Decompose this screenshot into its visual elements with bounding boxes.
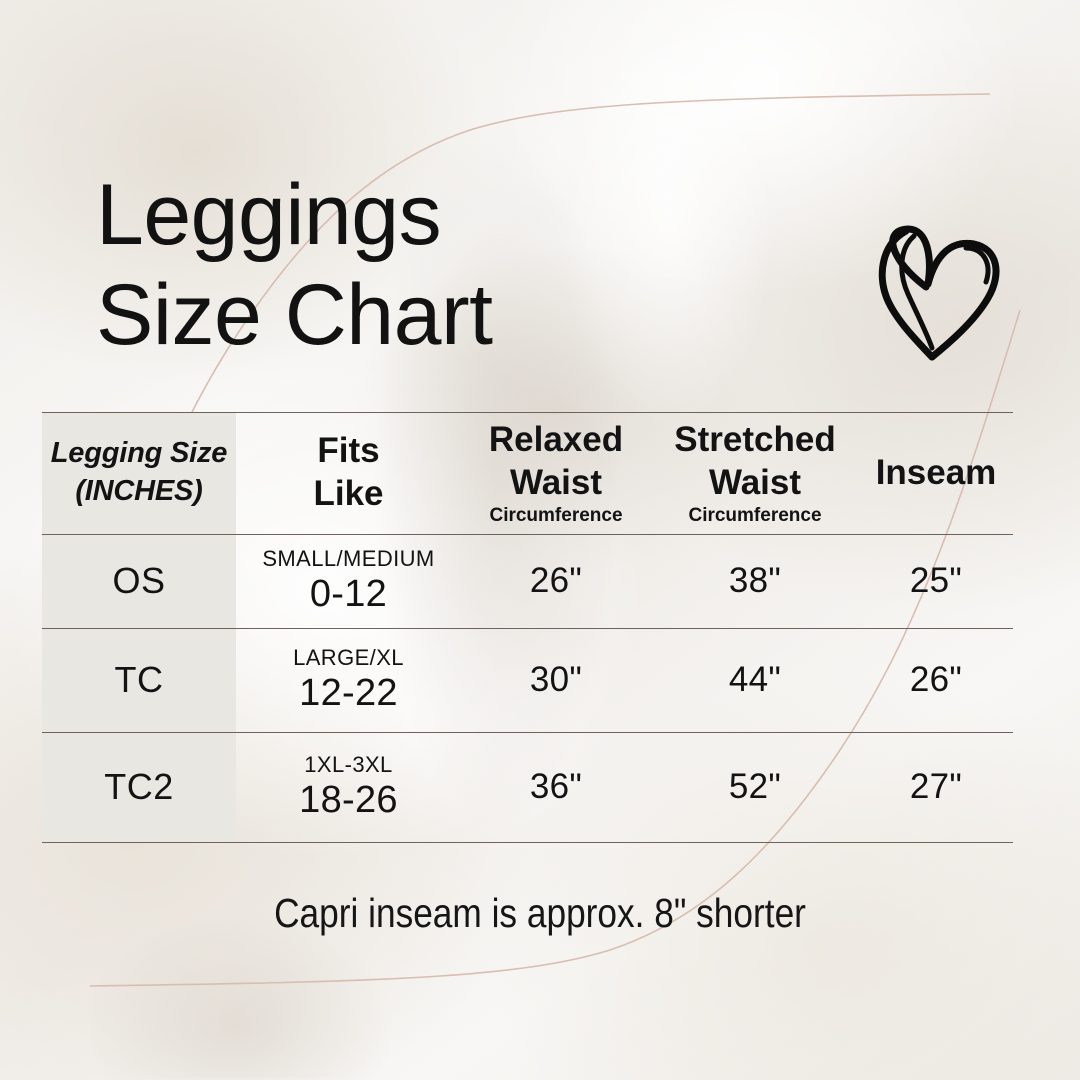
cell-relaxed-waist: 36" xyxy=(461,767,651,807)
value-fits-like-label: SMALL/MEDIUM xyxy=(262,546,434,572)
table-row: TC LARGE/XL 12-22 30" 44" 26" xyxy=(42,628,1013,732)
value-fits-like-range: 0-12 xyxy=(310,573,387,616)
cell-inseam: 27" xyxy=(859,767,1013,807)
page-title: Leggings Size Chart xyxy=(96,166,493,366)
cell-inseam: 25" xyxy=(859,561,1013,601)
cell-fits-like: 1XL-3XL 18-26 xyxy=(236,752,461,822)
cell-inseam: 26" xyxy=(859,660,1013,700)
value-fits-like-range: 18-26 xyxy=(299,779,398,822)
value-fits-like-range: 12-22 xyxy=(299,672,398,715)
header-cell-inseam: Inseam xyxy=(859,452,1013,495)
value-stretched-waist: 44" xyxy=(729,660,781,700)
cell-size: TC xyxy=(42,659,236,701)
cell-stretched-waist: 38" xyxy=(651,561,859,601)
header-label-inseam: Inseam xyxy=(876,452,997,495)
value-size: TC2 xyxy=(104,766,174,808)
value-inseam: 27" xyxy=(910,767,962,807)
value-relaxed-waist: 36" xyxy=(530,767,582,807)
cell-size: TC2 xyxy=(42,766,236,808)
capri-inseam-note: Capri inseam is approx. 8" shorter xyxy=(76,890,1005,937)
table-row: OS SMALL/MEDIUM 0-12 26" 38" 25" xyxy=(42,534,1013,628)
cell-relaxed-waist: 30" xyxy=(461,660,651,700)
header-label-relaxed-waist: Relaxed Waist xyxy=(489,419,623,504)
hand-drawn-heart-icon xyxy=(866,222,1026,372)
header-cell-relaxed-waist: Relaxed Waist Circumference xyxy=(461,419,651,527)
header-label-stretched-waist: Stretched Waist xyxy=(674,419,835,504)
cell-size: OS xyxy=(42,560,236,602)
header-cell-stretched-waist: Stretched Waist Circumference xyxy=(651,419,859,527)
header-cell-legging-size: Legging Size (INCHES) xyxy=(42,435,236,510)
header-label-legging-size: Legging Size (INCHES) xyxy=(51,435,227,510)
value-inseam: 26" xyxy=(910,660,962,700)
cell-fits-like: LARGE/XL 12-22 xyxy=(236,645,461,715)
value-inseam: 25" xyxy=(910,561,962,601)
header-sublabel-stretched-circumference: Circumference xyxy=(688,506,821,527)
value-fits-like-label: 1XL-3XL xyxy=(304,752,392,778)
value-size: OS xyxy=(112,560,165,602)
value-size: TC xyxy=(115,659,164,701)
table-header-row: Legging Size (INCHES) Fits Like Relaxed … xyxy=(42,412,1013,534)
cell-relaxed-waist: 26" xyxy=(461,561,651,601)
header-cell-fits-like: Fits Like xyxy=(236,430,461,515)
table-row: TC2 1XL-3XL 18-26 36" 52" 27" xyxy=(42,732,1013,842)
table-rule-bottom xyxy=(42,842,1013,843)
value-stretched-waist: 38" xyxy=(729,561,781,601)
value-fits-like-label: LARGE/XL xyxy=(293,645,404,671)
value-relaxed-waist: 30" xyxy=(530,660,582,700)
cell-fits-like: SMALL/MEDIUM 0-12 xyxy=(236,546,461,616)
cell-stretched-waist: 44" xyxy=(651,660,859,700)
value-relaxed-waist: 26" xyxy=(530,561,582,601)
value-stretched-waist: 52" xyxy=(729,767,781,807)
cell-stretched-waist: 52" xyxy=(651,767,859,807)
header-label-fits-like: Fits Like xyxy=(313,430,383,515)
header-sublabel-relaxed-circumference: Circumference xyxy=(489,506,622,527)
